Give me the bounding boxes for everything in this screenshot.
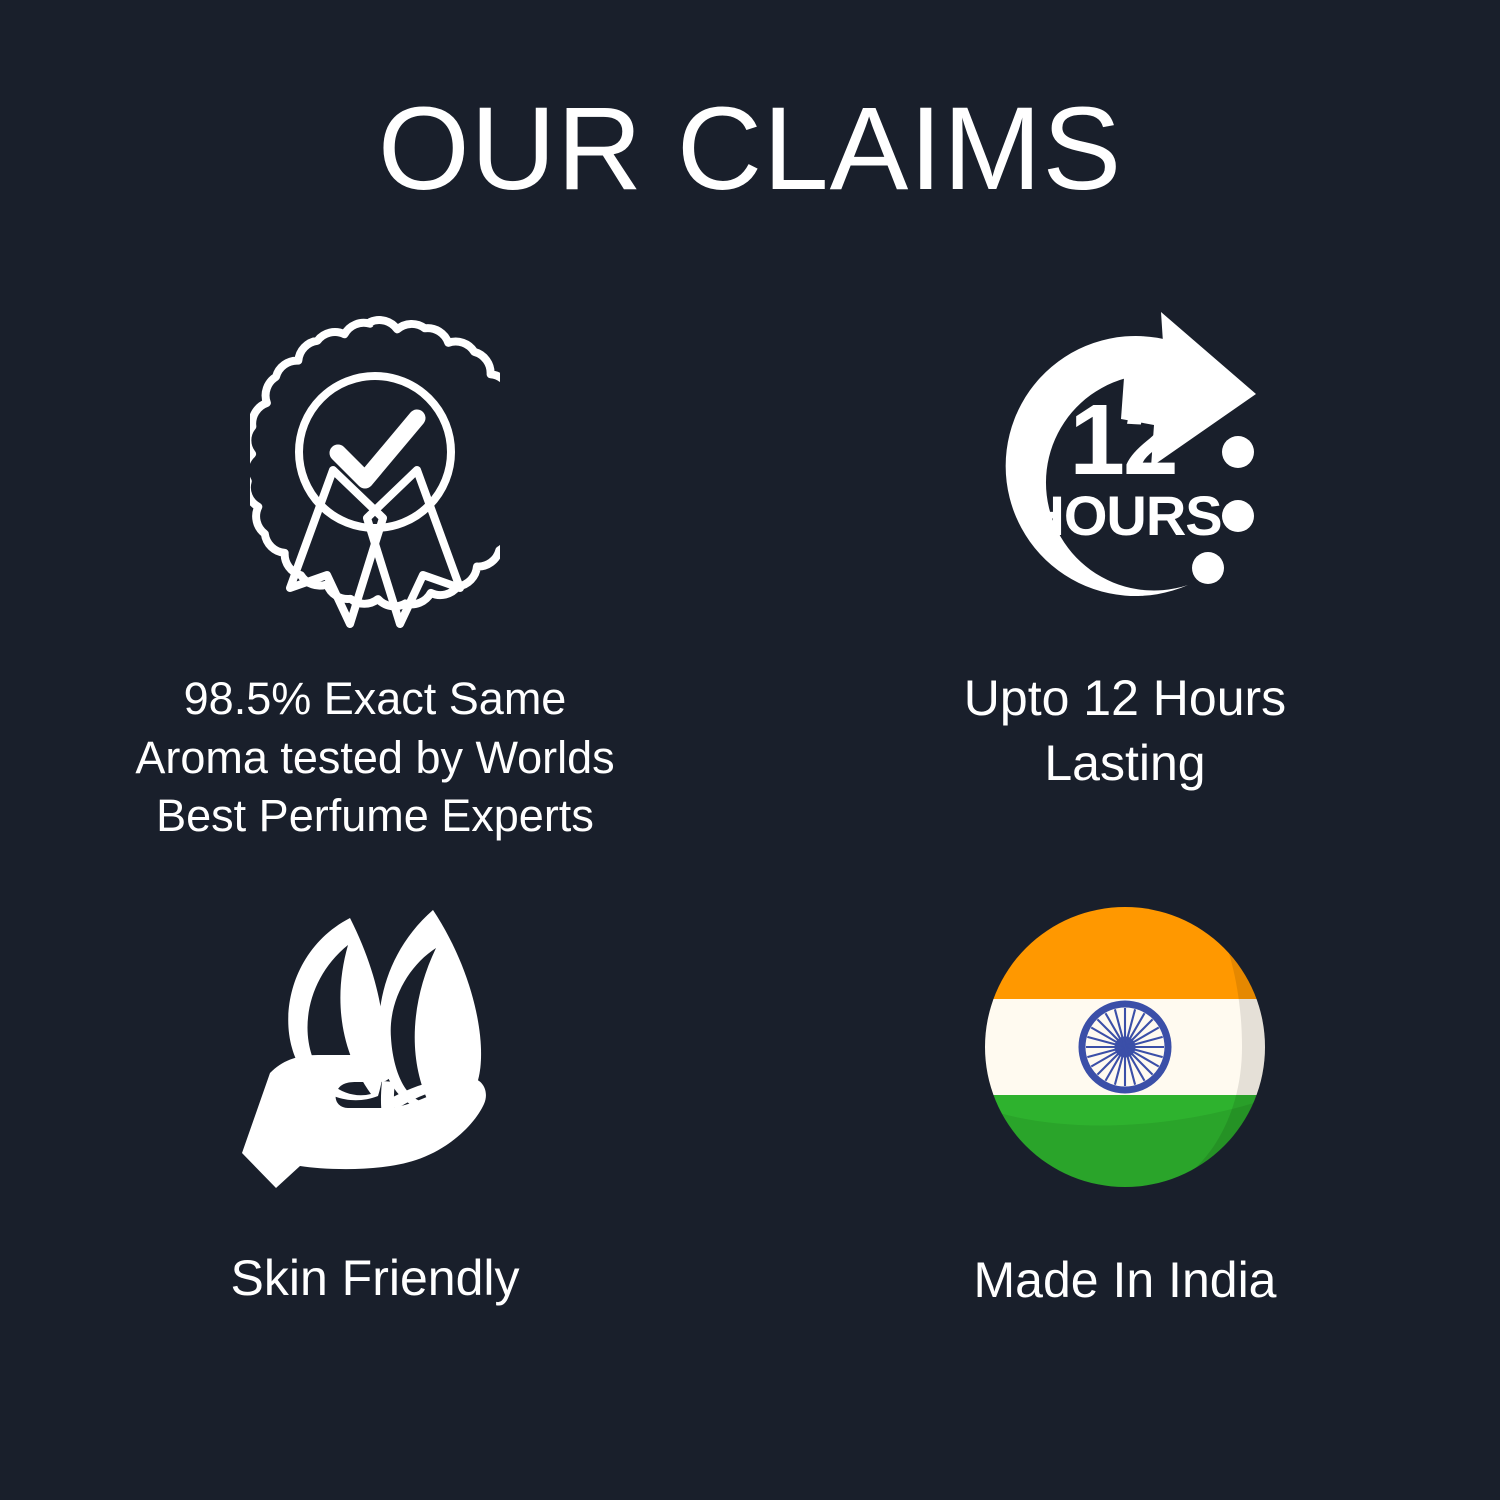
award-ribbon-check-icon [250, 310, 500, 630]
claim-item-lasting: 12 HOURS Upto 12 Hours Lasting [750, 290, 1500, 860]
claim-label-lasting: Upto 12 Hours Lasting [964, 666, 1286, 796]
clock-dot-1 [1195, 383, 1227, 415]
clock-number-text: 12 [1069, 384, 1176, 496]
claims-grid: 98.5% Exact Same Aroma tested by Worlds … [0, 290, 1500, 1470]
hand-holding-plant-icon [230, 898, 520, 1198]
clock-dot-4 [1192, 552, 1224, 584]
claim-label-india: Made In India [974, 1248, 1277, 1313]
page-title: OUR CLAIMS [0, 88, 1500, 212]
claim-item-skin: Skin Friendly [0, 860, 750, 1420]
twelve-hours-clock-icon: 12 HOURS [975, 302, 1275, 622]
clock-unit-text: HOURS [1024, 484, 1221, 547]
claim-label-quality: 98.5% Exact Same Aroma tested by Worlds … [135, 670, 614, 846]
claim-item-india: Made In India [750, 860, 1500, 1420]
clock-dot-3 [1222, 500, 1254, 532]
ashoka-chakra-icon [1082, 1004, 1168, 1090]
claim-label-skin: Skin Friendly [231, 1246, 520, 1311]
clock-dot-2 [1222, 436, 1254, 468]
india-flag-circle-icon [980, 902, 1270, 1192]
our-claims-graphic: OUR CLAIMS 98.5% Exact Same Aroma tested… [0, 0, 1500, 1500]
claim-item-quality: 98.5% Exact Same Aroma tested by Worlds … [0, 290, 750, 860]
